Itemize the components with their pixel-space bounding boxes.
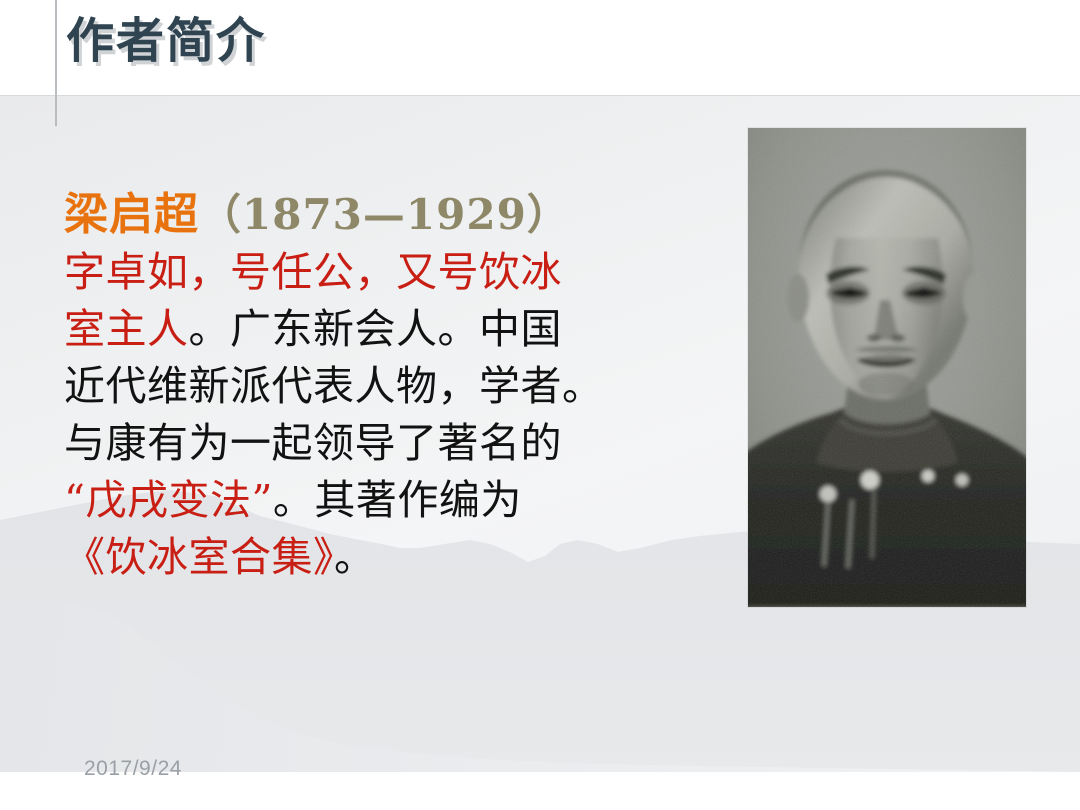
title-accent-vertical-line bbox=[55, 0, 57, 126]
person-lifespan: （1873—1929） bbox=[199, 190, 570, 239]
bio-text-normal: 。广东新会人。中国 bbox=[189, 305, 563, 353]
bio-line-6: 《饮冰室合集》。 bbox=[64, 529, 724, 586]
date-stamp: 2017/9/24 bbox=[84, 757, 182, 781]
bio-text-normal: 。 bbox=[334, 533, 376, 581]
page-title: 作者简介 bbox=[66, 10, 266, 75]
header-divider-line bbox=[0, 95, 1080, 96]
biography-text-block: 梁启超（1873—1929） 字卓如，号任公，又号饮冰 室主人。广东新会人。中国… bbox=[64, 186, 724, 586]
bio-line-4: 与康有为一起领导了著名的 bbox=[64, 415, 724, 472]
bio-line-1: 字卓如，号任公，又号饮冰 bbox=[64, 244, 724, 301]
bio-text-normal: 与康有为一起领导了著名的 bbox=[64, 419, 562, 467]
bio-line-3: 近代维新派代表人物，学者。 bbox=[64, 358, 724, 415]
bio-text-highlight: 室主人 bbox=[64, 305, 189, 353]
bio-heading-line: 梁启超（1873—1929） bbox=[64, 186, 724, 244]
slide: 作者简介 梁启超（1873—1929） 字卓如，号任公，又号饮冰 室主人。广东新… bbox=[0, 0, 1080, 810]
bio-text-highlight: 字卓如，号任公，又号饮冰 bbox=[64, 248, 562, 296]
person-name: 梁启超 bbox=[64, 189, 199, 240]
bio-line-2: 室主人。广东新会人。中国 bbox=[64, 301, 724, 358]
bio-line-5: “戊戌变法”。其著作编为 bbox=[64, 472, 724, 529]
bio-text-normal: 近代维新派代表人物，学者。 bbox=[64, 362, 604, 410]
bio-text-highlight: 《饮冰室合集》 bbox=[64, 533, 334, 581]
bio-text-normal: 。其著作编为 bbox=[273, 476, 522, 524]
portrait-photo bbox=[748, 128, 1026, 607]
bio-text-highlight: “戊戌变法” bbox=[64, 476, 273, 524]
